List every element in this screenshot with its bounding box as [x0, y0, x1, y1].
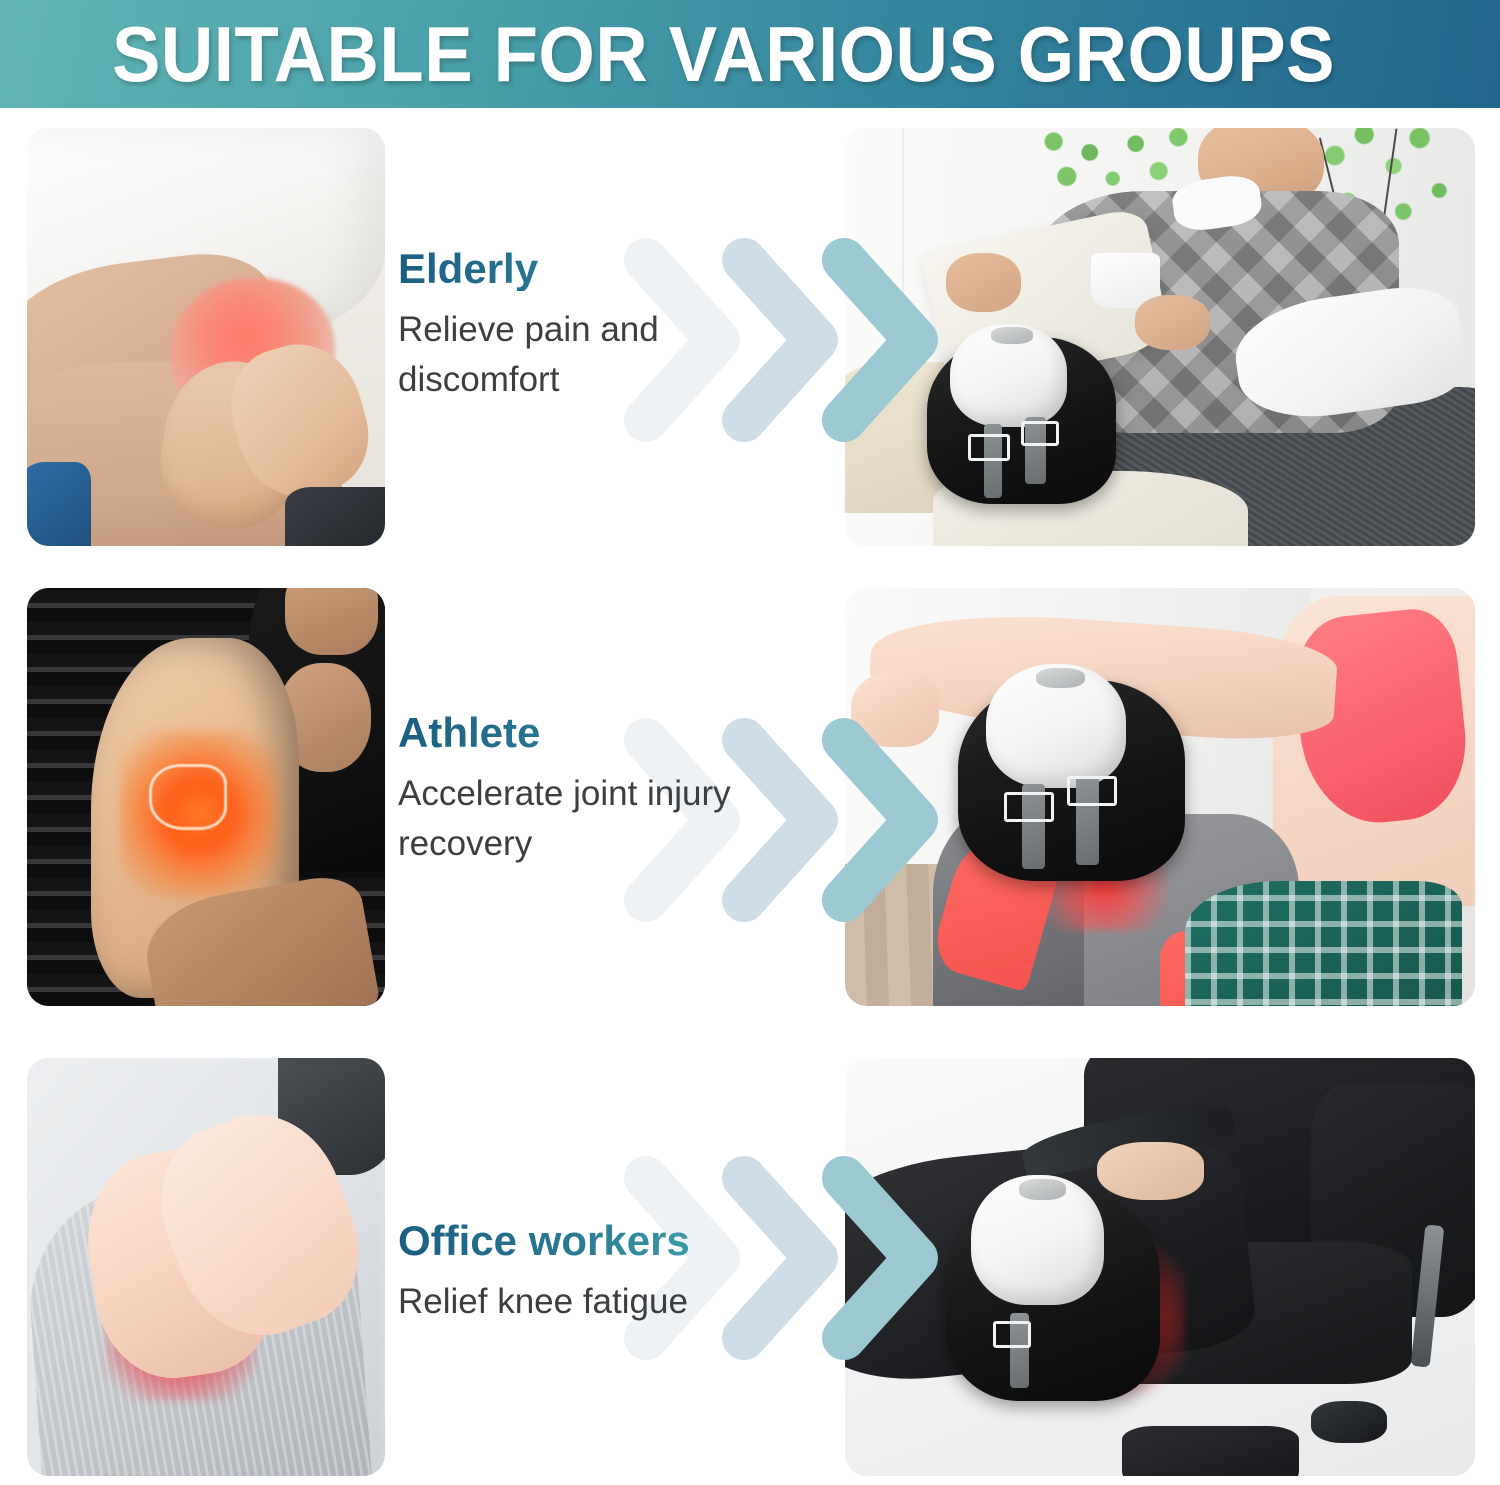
knee-massager-device: [927, 337, 1116, 504]
photo-office-worker-pain: [27, 1058, 385, 1476]
knee-massager-device: [958, 680, 1185, 881]
header-banner: SUITABLE FOR VARIOUS GROUPS: [0, 0, 1500, 108]
photo-athlete-using-device: [845, 588, 1475, 1006]
knee-massager-device: [946, 1192, 1160, 1401]
text-block-office-workers: Office workers Relief knee fatigue: [398, 1218, 868, 1327]
section-heading-elderly: Elderly: [398, 246, 828, 291]
infographic-page: SUITABLE FOR VARIOUS GROUPS: [0, 0, 1500, 1485]
photo-elderly-pain: [27, 128, 385, 546]
page-title: SUITABLE FOR VARIOUS GROUPS: [112, 9, 1335, 100]
section-description-elderly-line-1: Relieve pain and: [398, 305, 828, 355]
section-row-athlete: Athlete Accelerate joint injury recovery: [0, 588, 1500, 1006]
section-description-athlete-line-2: recovery: [398, 819, 848, 869]
text-block-athlete: Athlete Accelerate joint injury recovery: [398, 710, 848, 869]
section-description-elderly-line-2: discomfort: [398, 355, 828, 405]
section-description-office-workers-line-1: Relief knee fatigue: [398, 1277, 868, 1327]
text-block-elderly: Elderly Relieve pain and discomfort: [398, 246, 828, 405]
photo-athlete-pain: [27, 588, 385, 1006]
section-heading-office-workers: Office workers: [398, 1218, 868, 1263]
section-description-athlete-line-1: Accelerate joint injury: [398, 769, 848, 819]
section-heading-athlete: Athlete: [398, 710, 848, 755]
photo-office-worker-using-device: [845, 1058, 1475, 1476]
section-row-office-workers: Office workers Relief knee fatigue: [0, 1058, 1500, 1476]
photo-elderly-using-device: [845, 128, 1475, 546]
section-row-elderly: Elderly Relieve pain and discomfort: [0, 128, 1500, 546]
